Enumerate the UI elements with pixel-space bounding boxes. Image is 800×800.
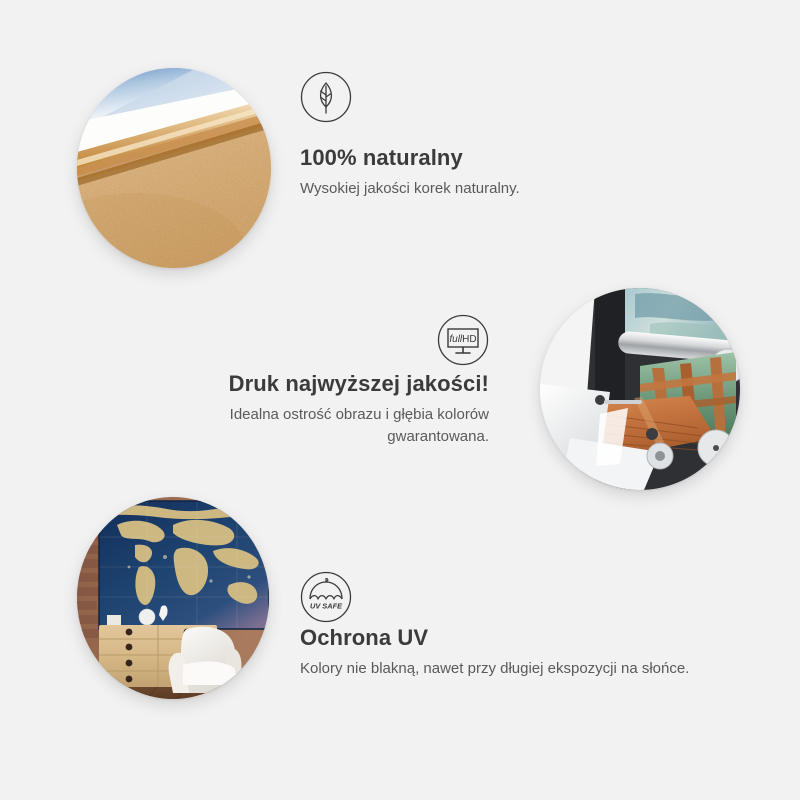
feature-description-uv: Kolory nie blakną, nawet przy długiej ek…	[300, 658, 720, 680]
leaf-icon	[299, 70, 353, 124]
cork-board-closeup-photo	[77, 68, 271, 268]
svg-text:fullHD: fullHD	[449, 334, 476, 345]
feature-description-natural: Wysokiej jakości korek naturalny.	[300, 178, 630, 200]
feature-description-print: Idealna ostrość obrazu i głębia kolorów …	[149, 404, 489, 448]
feature-heading-natural: 100% naturalny	[300, 145, 630, 171]
fullhd-icon-label-part2: HD	[462, 334, 476, 345]
uv-safe-icon-label: UV SAFE	[310, 602, 343, 611]
fullhd-icon-label-part1: full	[449, 334, 463, 345]
feature-block-uv: Ochrona UV Kolory nie blakną, nawet przy…	[300, 625, 720, 680]
world-map-interior-photo	[77, 497, 269, 699]
fullhd-monitor-icon: fullHD	[436, 313, 490, 367]
feature-heading-print: Druk najwyższej jakości!	[149, 371, 489, 397]
feature-block-natural: 100% naturalny Wysokiej jakości korek na…	[300, 145, 630, 200]
large-format-printer-photo	[540, 288, 740, 490]
uv-safe-umbrella-icon: UV SAFE	[299, 570, 353, 624]
feature-heading-uv: Ochrona UV	[300, 625, 720, 651]
feature-highlights-page: 100% naturalny Wysokiej jakości korek na…	[0, 0, 800, 800]
feature-block-print: Druk najwyższej jakości! Idealna ostrość…	[149, 371, 489, 448]
